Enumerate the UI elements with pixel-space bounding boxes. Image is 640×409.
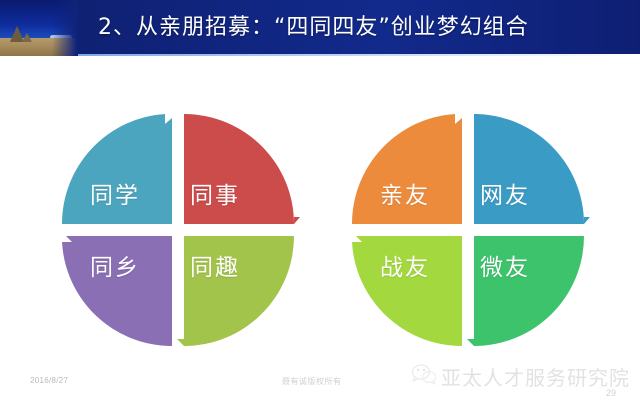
footer-date: 2016/8/27: [30, 376, 68, 385]
slide-body: 同学 同事 同乡 同趣 亲友 网友 战友 微友: [0, 56, 640, 360]
watermark: 亚太人才服务研究院: [411, 362, 630, 391]
wheel-quadrant-tongxiang[interactable]: [62, 236, 172, 346]
wheel-quadrant-weiyou[interactable]: [474, 236, 584, 346]
footer-copyright: 聂有诚版权所有: [282, 376, 342, 387]
watermark-text: 亚太人才服务研究院: [441, 362, 630, 391]
desert-landscape-photo: [0, 0, 78, 56]
si-tong-wheel: 同学 同事 同乡 同趣: [62, 114, 294, 346]
photo-fade-overlay: [52, 0, 78, 56]
photo-rock-formation-small: [22, 33, 32, 42]
page-title: 2、从亲朋招募：“四同四友”创业梦幻组合: [98, 0, 529, 56]
wheel-quadrant-tongxue[interactable]: [62, 114, 172, 224]
wheel-quadrant-wangyou[interactable]: [474, 114, 584, 224]
wheel-quadrant-zhanyou[interactable]: [352, 236, 462, 346]
wheel-quadrant-qinyou[interactable]: [352, 114, 462, 224]
slide-header-banner: 2、从亲朋招募：“四同四友”创业梦幻组合: [0, 0, 640, 56]
wheel-quadrant-tongshi[interactable]: [184, 114, 294, 224]
page-number: 29: [606, 388, 616, 398]
slide-footer: 2016/8/27 聂有诚版权所有 亚太人才服务研究院 29: [0, 360, 640, 409]
si-you-wheel: 亲友 网友 战友 微友: [352, 114, 584, 346]
wechat-logo-icon: [411, 363, 437, 390]
wheel-quadrant-tongqu[interactable]: [184, 236, 294, 346]
